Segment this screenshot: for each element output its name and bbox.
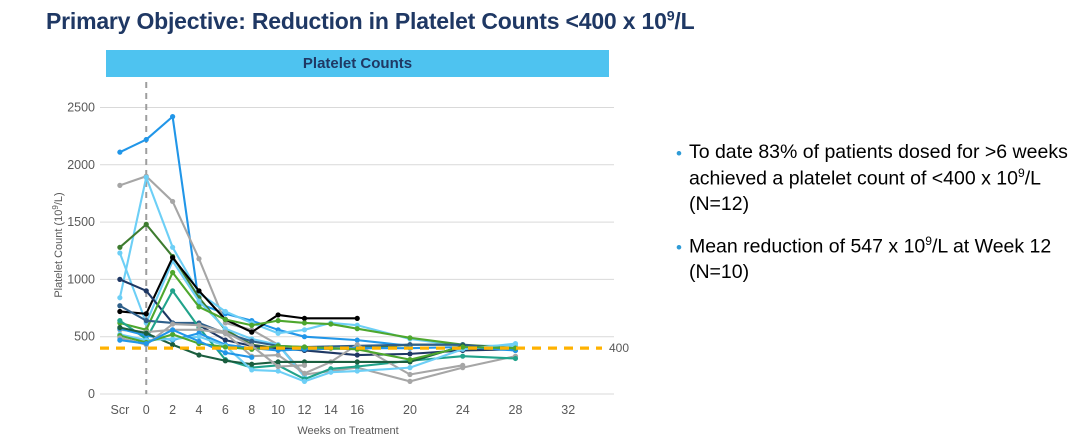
- data-point: [144, 288, 149, 293]
- data-point: [117, 295, 122, 300]
- data-point: [144, 318, 149, 323]
- data-point: [355, 352, 360, 357]
- data-point: [223, 338, 228, 343]
- data-point: [355, 364, 360, 369]
- data-point: [513, 356, 518, 361]
- x-axis-title: Weeks on Treatment: [297, 425, 398, 435]
- data-point: [355, 359, 360, 364]
- data-point: [223, 317, 228, 322]
- data-point: [196, 339, 201, 344]
- data-point: [170, 255, 175, 260]
- data-point: [460, 354, 465, 359]
- chart-title-text: Platelet Counts: [303, 55, 412, 72]
- y-axis-title: Platelet Count (109/L): [51, 192, 66, 297]
- series-line: [120, 177, 516, 345]
- data-point: [170, 114, 175, 119]
- data-point: [276, 352, 281, 357]
- page-title-suffix: /L: [674, 8, 694, 34]
- bullet-1-pre: To date 83% of patients dosed for >6 wee…: [689, 141, 1068, 189]
- data-point: [170, 199, 175, 204]
- x-tick-label: 14: [324, 403, 338, 417]
- bullet-text-1: To date 83% of patients dosed for >6 wee…: [689, 140, 1068, 218]
- data-point: [196, 352, 201, 357]
- data-point: [170, 288, 175, 293]
- data-point: [223, 358, 228, 363]
- data-point: [144, 331, 149, 336]
- platelet-counts-line-chart: 05001000150020002500Platelet Count (109/…: [40, 80, 630, 435]
- data-point: [223, 350, 228, 355]
- data-point: [170, 332, 175, 337]
- data-point: [328, 321, 333, 326]
- data-point: [407, 357, 412, 362]
- data-point: [249, 355, 254, 360]
- data-point: [302, 344, 307, 349]
- y-tick-label: 2000: [67, 158, 95, 172]
- data-point: [144, 137, 149, 142]
- bullet-1-superscript: 9: [1018, 166, 1025, 180]
- x-tick-label: 0: [143, 403, 150, 417]
- data-point: [117, 245, 122, 250]
- threshold-label: 400: [609, 341, 629, 355]
- bullet-list: • To date 83% of patients dosed for >6 w…: [676, 140, 1068, 302]
- x-tick-label: 2: [169, 403, 176, 417]
- bullet-dot-icon: •: [676, 145, 682, 162]
- data-point: [302, 320, 307, 325]
- data-point: [249, 339, 254, 344]
- data-point: [117, 183, 122, 188]
- data-point: [276, 331, 281, 336]
- data-point: [302, 363, 307, 368]
- data-point: [196, 304, 201, 309]
- y-tick-label: 500: [74, 330, 95, 344]
- data-point: [196, 256, 201, 261]
- data-point: [460, 363, 465, 368]
- data-point: [302, 316, 307, 321]
- x-tick-label: 16: [350, 403, 364, 417]
- data-point: [328, 370, 333, 375]
- bullet-dot-icon: •: [676, 239, 682, 256]
- y-tick-label: 0: [88, 387, 95, 401]
- data-point: [144, 222, 149, 227]
- data-point: [355, 338, 360, 343]
- data-point: [355, 316, 360, 321]
- data-point: [249, 367, 254, 372]
- x-tick-label: 20: [403, 403, 417, 417]
- slide-root: Primary Objective: Reduction in Platelet…: [0, 0, 1080, 441]
- page-title: Primary Objective: Reduction in Platelet…: [46, 8, 1046, 35]
- data-point: [170, 321, 175, 326]
- data-point: [407, 335, 412, 340]
- x-tick-label: Scr: [110, 403, 129, 417]
- x-tick-label: 10: [271, 403, 285, 417]
- x-tick-label: 6: [222, 403, 229, 417]
- data-point: [513, 341, 518, 346]
- data-point: [144, 175, 149, 180]
- data-point: [117, 277, 122, 282]
- chart-panel: Platelet Counts 05001000150020002500Plat…: [40, 50, 630, 435]
- list-item: • Mean reduction of 547 x 109/L at Week …: [676, 234, 1068, 286]
- y-tick-label: 1000: [67, 272, 95, 286]
- data-point: [302, 371, 307, 376]
- data-point: [276, 364, 281, 369]
- data-point: [144, 341, 149, 346]
- data-point: [302, 334, 307, 339]
- bullet-2-pre: Mean reduction of 547 x 10: [689, 235, 925, 257]
- x-tick-label: 24: [456, 403, 470, 417]
- x-tick-label: 4: [196, 403, 203, 417]
- list-item: • To date 83% of patients dosed for >6 w…: [676, 140, 1068, 218]
- data-point: [144, 311, 149, 316]
- data-point: [117, 309, 122, 314]
- bullet-2-superscript: 9: [925, 234, 932, 248]
- data-point: [407, 372, 412, 377]
- data-point: [170, 270, 175, 275]
- series-patient-01: [117, 114, 412, 348]
- data-point: [117, 250, 122, 255]
- data-point: [276, 359, 281, 364]
- data-point: [223, 330, 228, 335]
- data-point: [170, 245, 175, 250]
- data-point: [249, 362, 254, 367]
- data-point: [196, 334, 201, 339]
- data-point: [302, 327, 307, 332]
- data-point: [117, 150, 122, 155]
- data-point: [249, 330, 254, 335]
- data-point: [117, 338, 122, 343]
- bullet-text-2: Mean reduction of 547 x 109/L at Week 12…: [689, 234, 1068, 286]
- data-point: [170, 327, 175, 332]
- data-point: [223, 344, 228, 349]
- data-point: [407, 351, 412, 356]
- chart-title-banner: Platelet Counts: [106, 50, 609, 77]
- data-point: [117, 303, 122, 308]
- data-point: [355, 326, 360, 331]
- data-point: [170, 336, 175, 341]
- x-tick-label: 28: [509, 403, 523, 417]
- data-point: [117, 318, 122, 323]
- series-line: [120, 306, 516, 351]
- data-point: [407, 379, 412, 384]
- plot-area: 05001000150020002500Platelet Count (109/…: [40, 80, 630, 435]
- x-tick-label: 12: [298, 403, 312, 417]
- x-tick-label: 32: [561, 403, 575, 417]
- data-point: [407, 365, 412, 370]
- data-point: [276, 368, 281, 373]
- data-point: [196, 323, 201, 328]
- data-point: [223, 309, 228, 314]
- page-title-text: Primary Objective: Reduction in Platelet…: [46, 8, 667, 34]
- data-point: [276, 318, 281, 323]
- data-point: [117, 325, 122, 330]
- y-tick-label: 1500: [67, 215, 95, 229]
- x-tick-label: 8: [248, 403, 255, 417]
- data-point: [302, 379, 307, 384]
- data-point: [249, 323, 254, 328]
- data-point: [196, 288, 201, 293]
- y-tick-label: 2500: [67, 100, 95, 114]
- data-point: [170, 342, 175, 347]
- data-point: [355, 368, 360, 373]
- data-point: [276, 312, 281, 317]
